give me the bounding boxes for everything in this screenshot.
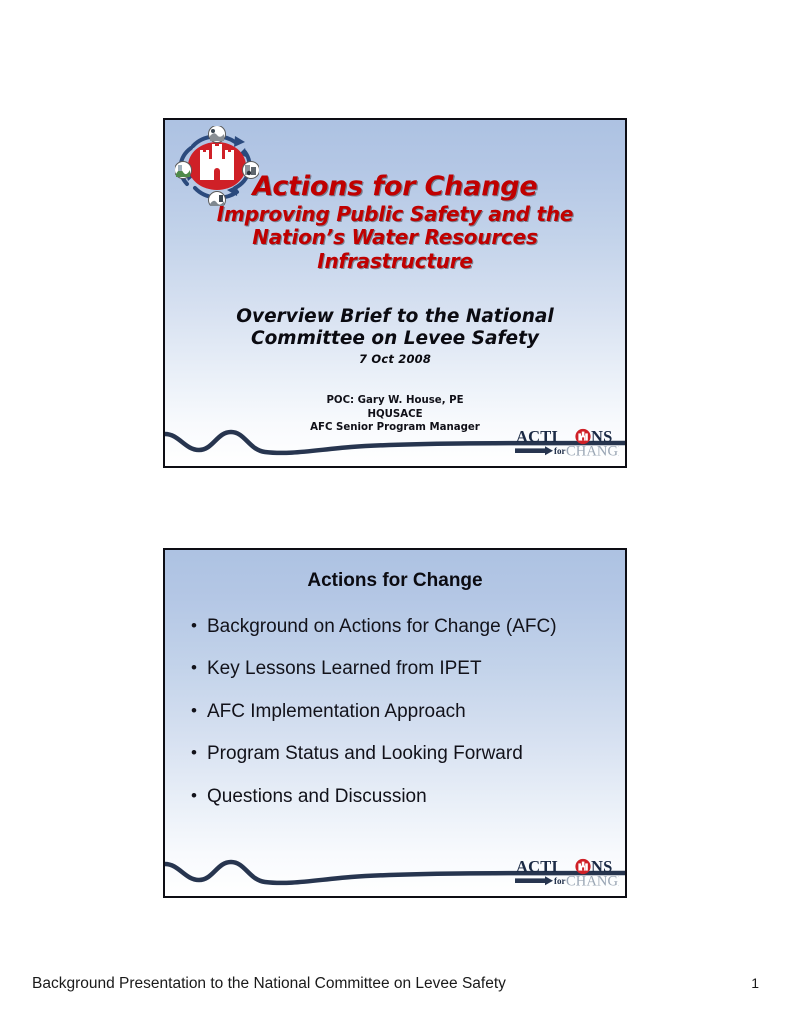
subtitle-line-1: Improving Public Safety and the — [183, 203, 607, 226]
page-footer: Background Presentation to the National … — [32, 975, 759, 993]
footer-text: Background Presentation to the National … — [32, 975, 506, 993]
list-item: • Program Status and Looking Forward — [191, 743, 605, 765]
bullet-icon: • — [191, 786, 207, 806]
agenda-bullet-list: • Background on Actions for Change (AFC)… — [191, 616, 605, 828]
brief-line-2: Committee on Levee Safety — [187, 328, 603, 350]
agenda-slide[interactable]: Actions for Change • Background on Actio… — [163, 548, 627, 898]
list-item-label: Program Status and Looking Forward — [207, 743, 523, 765]
svg-text:CHANGE: CHANGE — [566, 444, 619, 460]
actions-for-change-logo: ACTI NS for CHANGE — [515, 854, 619, 890]
list-item: • Questions and Discussion — [191, 786, 605, 808]
bullet-icon: • — [191, 701, 207, 721]
subtitle-line-2: Nation’s Water Resources — [183, 226, 607, 249]
svg-text:ACTI: ACTI — [516, 857, 558, 876]
poc-org: HQUSACE — [165, 408, 625, 422]
svg-text:ACTI: ACTI — [516, 427, 558, 446]
list-item: • Background on Actions for Change (AFC) — [191, 616, 605, 638]
title-text-block: Actions for Change Improving Public Safe… — [165, 172, 625, 273]
svg-text:for: for — [554, 446, 566, 456]
poc-name: POC: Gary W. House, PE — [165, 394, 625, 408]
actions-for-change-logo: ACTI NS for CHANGE — [515, 424, 619, 460]
title-slide[interactable]: Actions for Change Improving Public Safe… — [163, 118, 627, 468]
svg-text:CHANGE: CHANGE — [566, 874, 619, 890]
svg-text:for: for — [554, 876, 566, 886]
bullet-icon: • — [191, 658, 207, 678]
subtitle-line-3: Infrastructure — [183, 250, 607, 273]
slide-title-main: Actions for Change — [183, 172, 607, 201]
brief-date: 7 Oct 2008 — [187, 352, 603, 366]
list-item-label: Questions and Discussion — [207, 786, 427, 808]
brief-line-1: Overview Brief to the National — [187, 306, 603, 328]
brief-block: Overview Brief to the National Committee… — [165, 306, 625, 366]
list-item: • Key Lessons Learned from IPET — [191, 658, 605, 680]
bullet-icon: • — [191, 616, 207, 636]
list-item-label: Key Lessons Learned from IPET — [207, 658, 482, 680]
list-item: • AFC Implementation Approach — [191, 701, 605, 723]
slide-subtitle: Improving Public Safety and the Nation’s… — [183, 203, 607, 273]
page-number: 1 — [751, 975, 759, 991]
list-item-label: Background on Actions for Change (AFC) — [207, 616, 557, 638]
agenda-slide-title: Actions for Change — [165, 570, 625, 592]
bullet-icon: • — [191, 743, 207, 763]
list-item-label: AFC Implementation Approach — [207, 701, 466, 723]
